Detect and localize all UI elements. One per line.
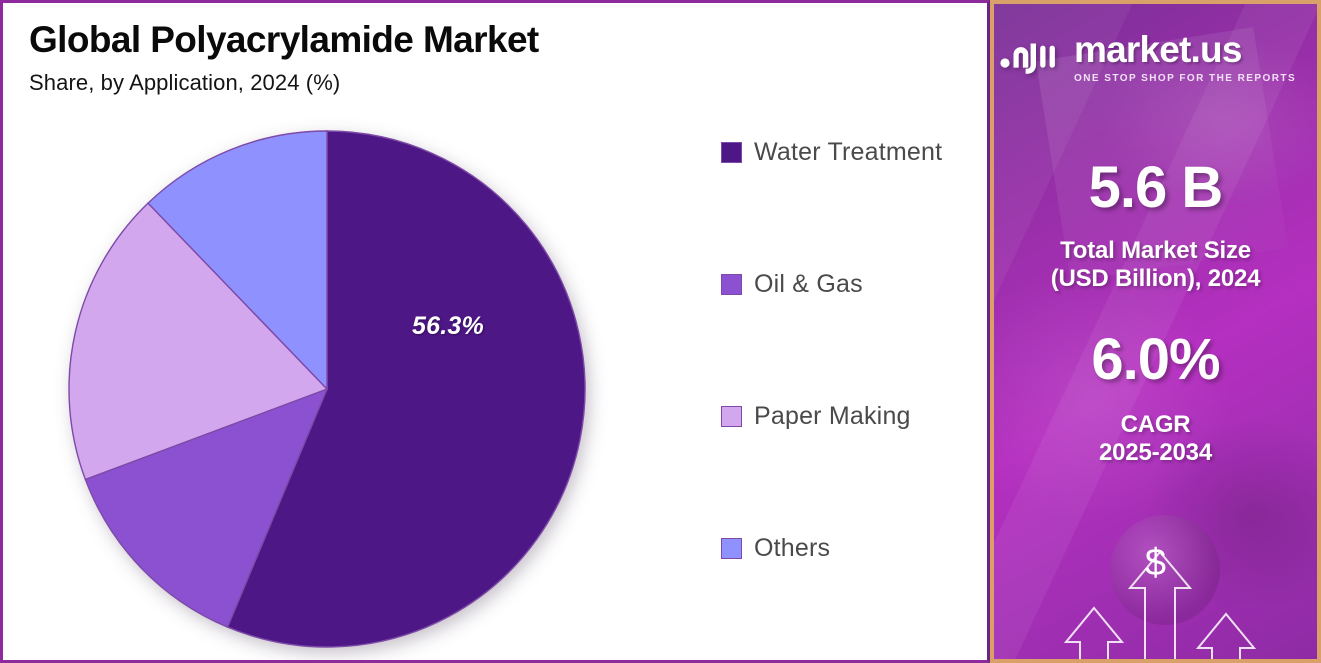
market-size-caption-line1: Total Market Size: [994, 237, 1317, 265]
chart-legend: Water Treatment Oil & Gas Paper Making O…: [721, 137, 981, 563]
cagr-caption-line2: 2025-2034: [994, 439, 1317, 467]
cagr-caption: CAGR 2025-2034: [994, 411, 1317, 468]
page-title: Global Polyacrylamide Market: [29, 19, 729, 62]
legend-swatch-icon: [721, 274, 742, 295]
legend-swatch-icon: [721, 142, 742, 163]
brand-logo[interactable]: market.us ONE STOP SHOP FOR THE REPORTS: [994, 31, 1317, 86]
logo-tagline: ONE STOP SHOP FOR THE REPORTS: [1074, 73, 1296, 84]
page-subtitle: Share, by Application, 2024 (%): [29, 70, 729, 96]
market-size-caption: Total Market Size (USD Billion), 2024: [994, 237, 1317, 294]
market-size-value: 5.6 B: [994, 159, 1317, 217]
pie-chart: 56.3%: [65, 127, 589, 651]
infographic-root: Global Polyacrylamide Market Share, by A…: [0, 0, 1321, 663]
legend-item-oil-and-gas[interactable]: Oil & Gas: [721, 269, 981, 299]
chart-panel: Global Polyacrylamide Market Share, by A…: [0, 0, 990, 663]
dollar-sign-icon: $: [1145, 544, 1166, 582]
market-us-logo-icon: [1000, 33, 1062, 84]
legend-item-paper-making[interactable]: Paper Making: [721, 401, 981, 431]
cagr-value: 6.0%: [994, 331, 1317, 389]
legend-label: Others: [754, 534, 830, 563]
legend-swatch-icon: [721, 538, 742, 559]
logo-wordmark: market.us: [1074, 29, 1242, 70]
legend-swatch-icon: [721, 406, 742, 427]
logo-text: market.us ONE STOP SHOP FOR THE REPORTS: [1074, 31, 1317, 86]
legend-label: Water Treatment: [754, 138, 942, 167]
stats-panel: market.us ONE STOP SHOP FOR THE REPORTS …: [990, 0, 1321, 663]
legend-item-water-treatment[interactable]: Water Treatment: [721, 137, 981, 167]
legend-label: Paper Making: [754, 402, 911, 431]
pie-slice-label-water-treatment: 56.3%: [412, 312, 484, 341]
legend-item-others[interactable]: Others: [721, 533, 981, 563]
legend-label: Oil & Gas: [754, 270, 863, 299]
market-size-caption-line2: (USD Billion), 2024: [994, 265, 1317, 293]
stats-content: market.us ONE STOP SHOP FOR THE REPORTS …: [994, 31, 1317, 663]
pie-chart-svg: [65, 127, 589, 651]
title-block: Global Polyacrylamide Market Share, by A…: [29, 19, 729, 96]
cagr-caption-line1: CAGR: [994, 411, 1317, 439]
